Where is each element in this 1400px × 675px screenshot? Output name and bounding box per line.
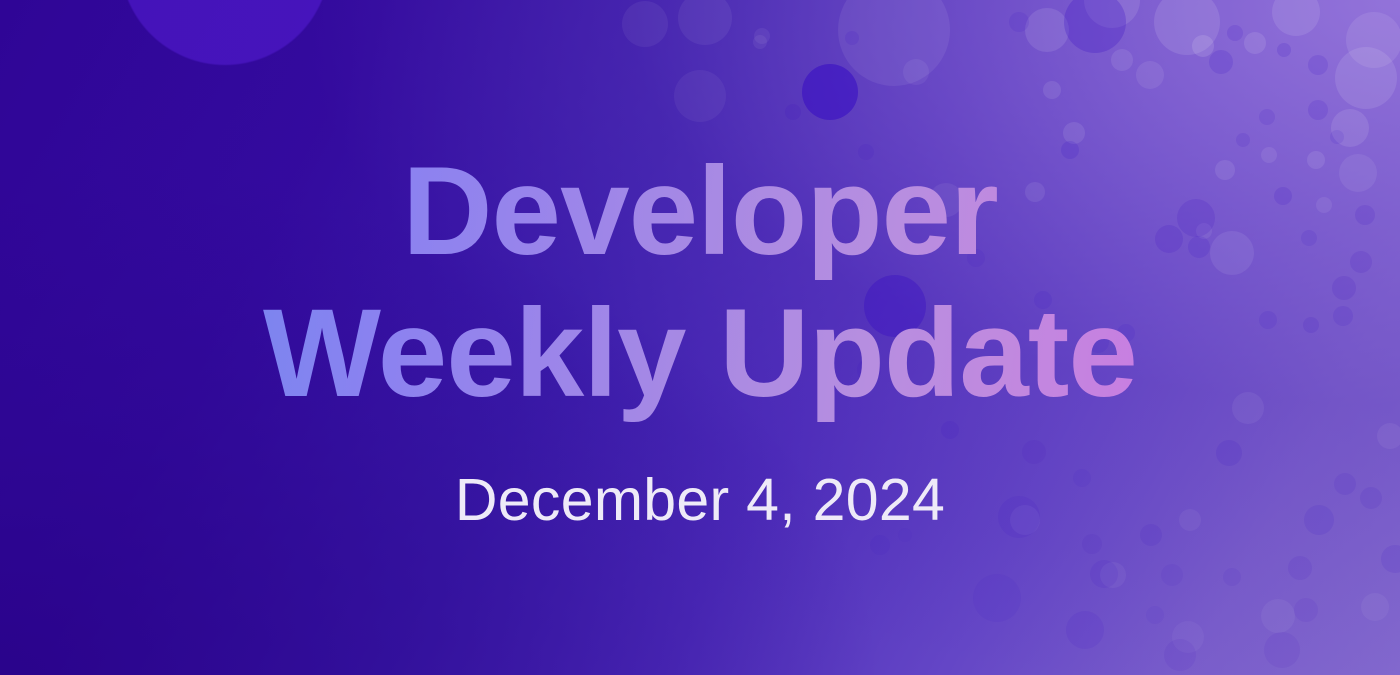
title-line-2: Weekly Update (263, 283, 1137, 424)
title-slide: Developer Weekly Update December 4, 2024 (0, 0, 1400, 675)
title-line-1: Developer (263, 141, 1137, 282)
slide-content: Developer Weekly Update December 4, 2024 (0, 0, 1400, 675)
slide-date: December 4, 2024 (455, 466, 945, 534)
page-title: Developer Weekly Update (263, 141, 1137, 424)
